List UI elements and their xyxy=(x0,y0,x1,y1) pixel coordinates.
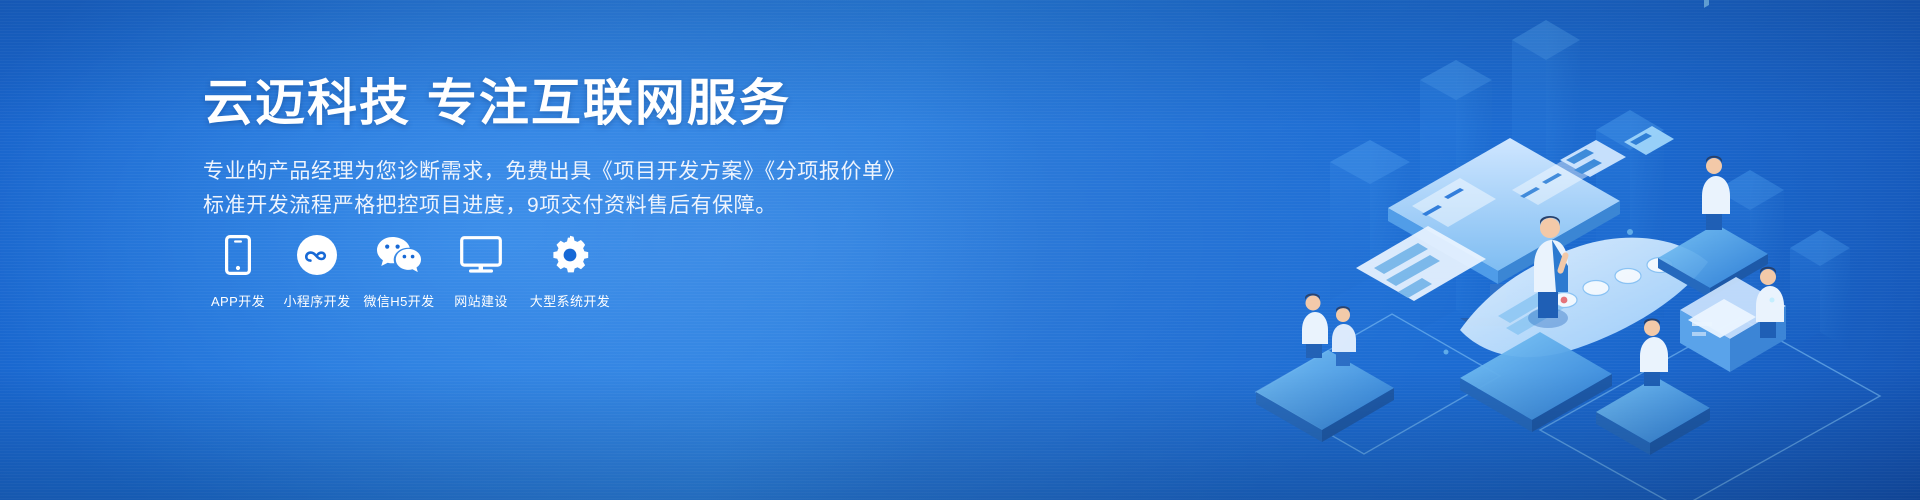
gear-icon xyxy=(550,232,590,278)
subtitle-line-1: 专业的产品经理为您诊断需求，免费出具《项目开发方案》《分项报价单》 xyxy=(203,156,963,188)
hero-copy: 云迈科技 专注互联网服务 专业的产品经理为您诊断需求，免费出具《项目开发方案》《… xyxy=(203,72,963,222)
page-title: 云迈科技 专注互联网服务 xyxy=(203,72,963,134)
service-item-wechat-h5[interactable]: 微信H5开发 xyxy=(358,232,440,310)
service-item-app[interactable]: APP开发 xyxy=(200,232,276,310)
hero-banner: 云迈科技 专注互联网服务 专业的产品经理为您诊断需求，免费出具《项目开发方案》《… xyxy=(0,0,1920,500)
mobile-phone-icon xyxy=(225,232,251,278)
service-item-mini-program[interactable]: 小程序开发 xyxy=(278,232,356,310)
service-label: APP开发 xyxy=(211,291,265,310)
mini-program-icon xyxy=(297,232,337,278)
monitor-icon xyxy=(460,232,502,278)
service-list: APP开发 小程序开发 微信 xyxy=(200,232,620,310)
service-label: 大型系统开发 xyxy=(530,291,610,310)
service-label: 微信H5开发 xyxy=(363,291,434,310)
service-item-large-system[interactable]: 大型系统开发 xyxy=(522,232,618,310)
service-item-website[interactable]: 网站建设 xyxy=(442,232,520,310)
service-label: 网站建设 xyxy=(454,291,508,310)
isometric-tech-illustration xyxy=(1160,0,1920,500)
service-label: 小程序开发 xyxy=(283,291,350,310)
wechat-icon xyxy=(375,232,423,278)
subtitle-line-2: 标准开发流程严格把控项目进度，9项交付资料售后有保障。 xyxy=(203,190,963,222)
